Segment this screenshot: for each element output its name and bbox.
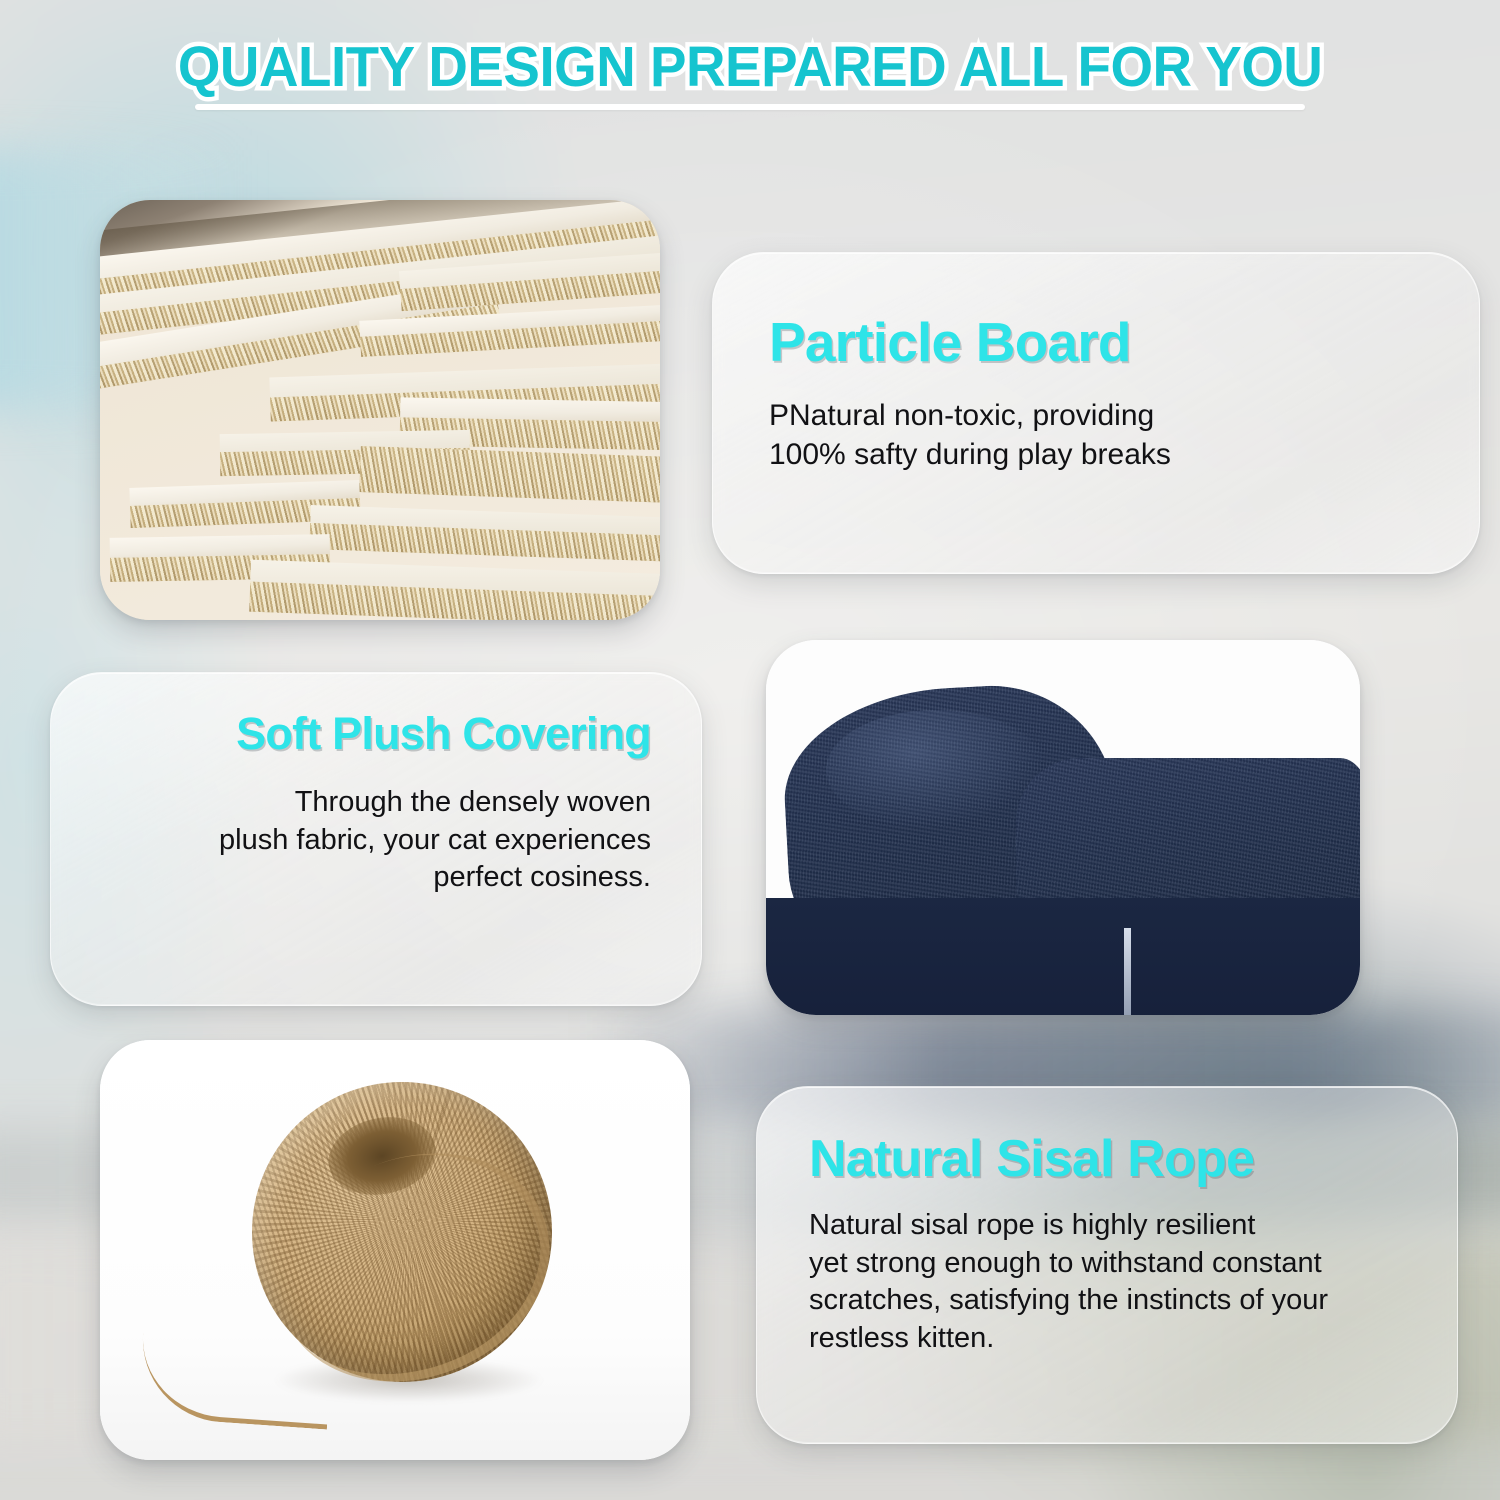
- plush-fabric-scene: [766, 640, 1360, 1015]
- feature-card-particle-board: Particle Board PNatural non-toxic, provi…: [712, 252, 1480, 574]
- sisal-rope-photo: [100, 1040, 690, 1460]
- feature-body-line: 100% safty during play breaks: [769, 435, 1479, 474]
- page-title-text: QUALITY DESIGN PREPARED ALL FOR YOU: [178, 38, 1323, 97]
- feature-heading-soft-plush-covering: Soft Plush Covering: [89, 711, 651, 756]
- board-plank: [249, 560, 660, 620]
- plush-base-band: [766, 898, 1360, 1015]
- feature-body-natural-sisal-rope: Natural sisal rope is highly resilient y…: [809, 1207, 1457, 1358]
- sisal-rope-scene: [100, 1040, 690, 1460]
- feature-body-line: scratches, satisfying the instincts of y…: [809, 1282, 1457, 1320]
- board-plank: [359, 446, 660, 504]
- feature-heading-particle-board: Particle Board: [769, 315, 1479, 370]
- feature-body-line: restless kitten.: [809, 1320, 1457, 1358]
- feature-body-line: yet strong enough to withstand constant: [809, 1245, 1457, 1283]
- particle-board-scene: [100, 200, 660, 620]
- feature-heading-natural-sisal-rope: Natural Sisal Rope: [809, 1133, 1457, 1185]
- feature-body-line: perfect cosiness.: [89, 859, 651, 897]
- feature-body-line: PNatural non-toxic, providing: [769, 396, 1479, 435]
- plush-fabric-photo: [766, 640, 1360, 1015]
- sisal-twine-loose-end: [137, 1333, 332, 1429]
- board-plank-edge: [359, 446, 660, 504]
- plush-seam: [1124, 928, 1131, 1015]
- plush-highlight: [826, 710, 1046, 830]
- feature-card-soft-plush-covering: Soft Plush Covering Through the densely …: [50, 672, 702, 1006]
- page-title: QUALITY DESIGN PREPARED ALL FOR YOU: [0, 38, 1500, 110]
- feature-body-soft-plush-covering: Through the densely woven plush fabric, …: [89, 784, 651, 897]
- feature-card-natural-sisal-rope: Natural Sisal Rope Natural sisal rope is…: [756, 1086, 1458, 1444]
- infographic-stage: QUALITY DESIGN PREPARED ALL FOR YOU: [0, 0, 1500, 1500]
- feature-body-particle-board: PNatural non-toxic, providing 100% safty…: [769, 396, 1479, 474]
- feature-body-line: Through the densely woven: [89, 784, 651, 822]
- feature-body-line: Natural sisal rope is highly resilient: [809, 1207, 1457, 1245]
- feature-body-line: plush fabric, your cat experiences: [89, 822, 651, 860]
- board-plank: [309, 505, 660, 563]
- particle-board-photo: [100, 200, 660, 620]
- title-underline: [195, 104, 1305, 110]
